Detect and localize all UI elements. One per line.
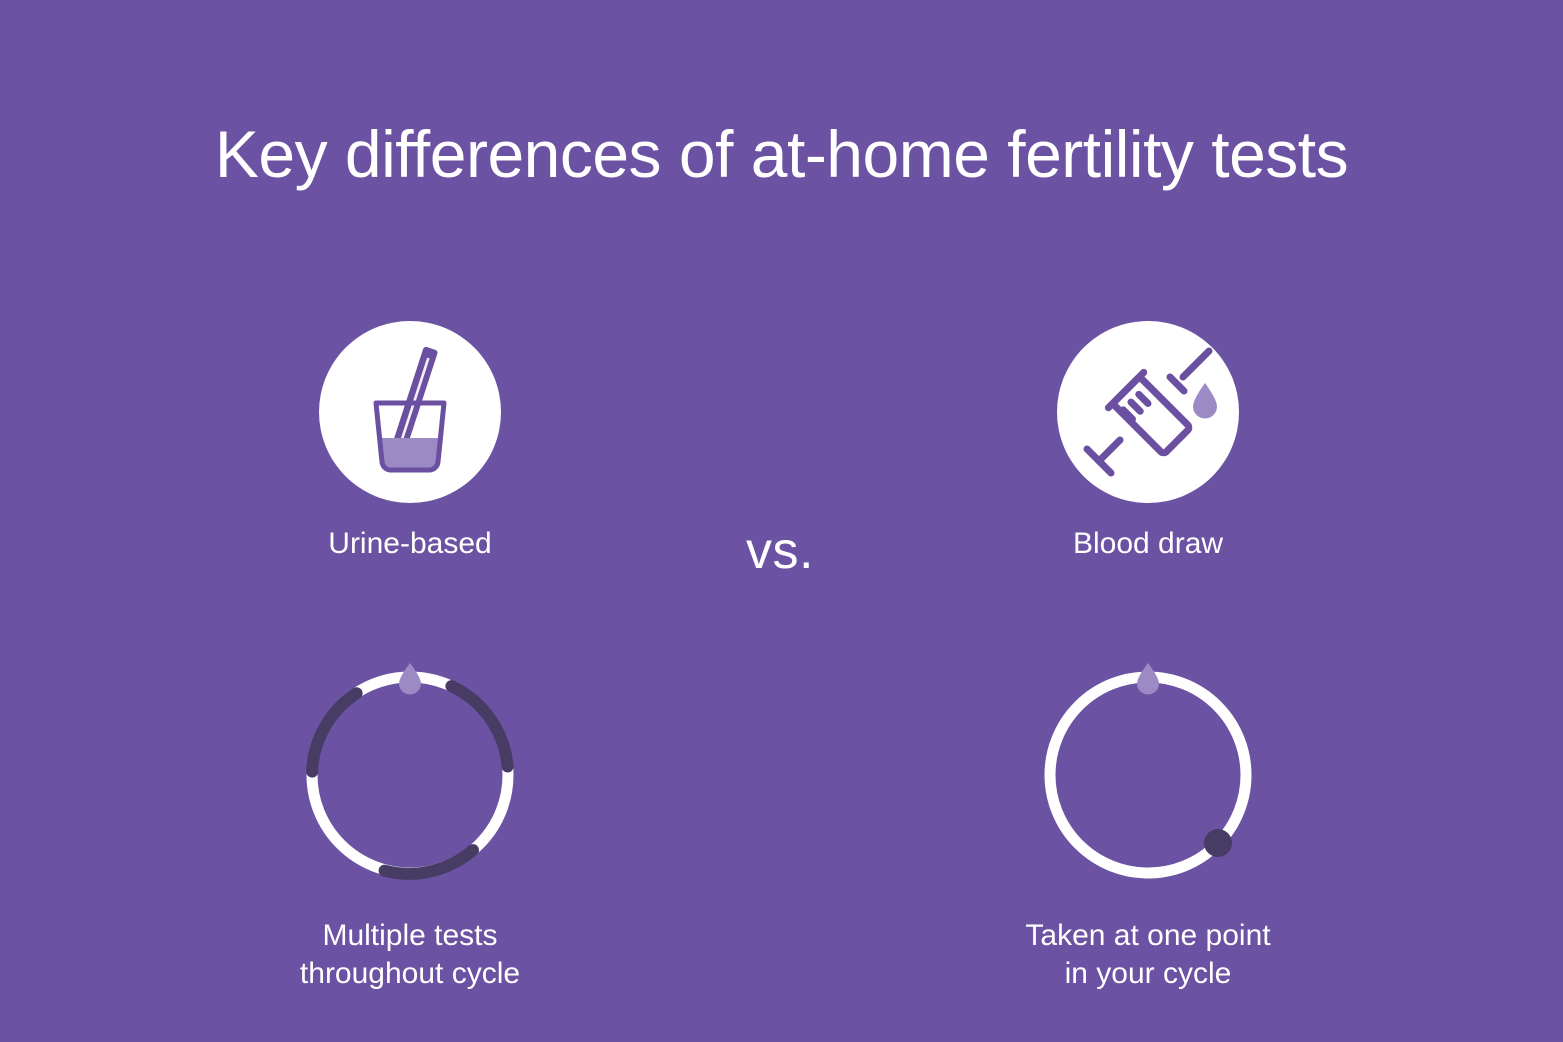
cycle-ring-single xyxy=(1028,655,1268,895)
method-label-right: Blood draw xyxy=(938,525,1358,563)
page-title: Key differences of at-home fertility tes… xyxy=(0,118,1563,191)
method-label-left: Urine-based xyxy=(200,525,620,563)
comparison-column-right: Blood draw Taken at one point in your cy… xyxy=(938,300,1358,993)
cycle-ring-multiple xyxy=(290,655,530,895)
frequency-label-right-line1: Taken at one point xyxy=(938,917,1358,955)
comparison-column-left: Urine-based Multiple tests throughout cy… xyxy=(200,300,620,993)
frequency-label-right: Taken at one point in your cycle xyxy=(938,917,1358,994)
urine-cup-badge xyxy=(319,321,501,503)
single-test-point-dot xyxy=(1204,829,1232,857)
droplet-icon xyxy=(1137,663,1159,695)
frequency-label-right-line2: in your cycle xyxy=(938,955,1358,993)
vs-divider-label: vs. xyxy=(620,521,940,581)
frequency-label-left-line2: throughout cycle xyxy=(200,955,620,993)
frequency-label-left: Multiple tests throughout cycle xyxy=(200,917,620,994)
frequency-label-left-line1: Multiple tests xyxy=(200,917,620,955)
cycle-ring-single-icon xyxy=(1028,655,1268,895)
cycle-ring-multiple-icon xyxy=(290,655,530,895)
urine-cup-icon xyxy=(319,321,501,503)
syringe-badge xyxy=(1057,321,1239,503)
syringe-icon xyxy=(1057,321,1239,503)
droplet-icon xyxy=(399,663,421,695)
infographic-canvas: Key differences of at-home fertility tes… xyxy=(0,0,1563,1042)
blood-drop-icon xyxy=(1193,383,1217,419)
